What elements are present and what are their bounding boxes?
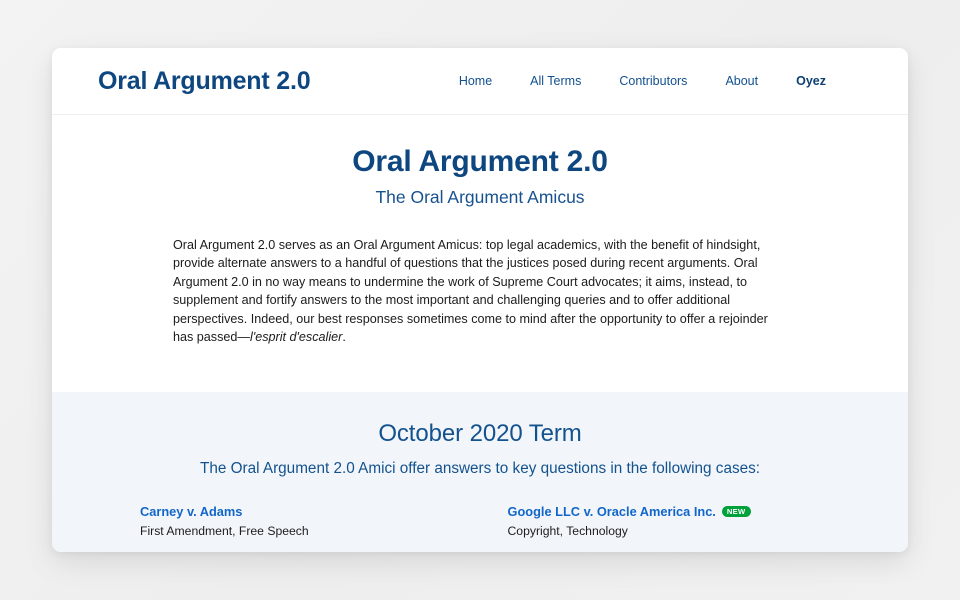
intro-paragraph-italic: l'esprit d'escalier	[250, 330, 342, 344]
site-header: Oral Argument 2.0 Home All Terms Contrib…	[52, 48, 908, 115]
page-title: Oral Argument 2.0	[52, 145, 908, 178]
nav-item-about[interactable]: About	[725, 74, 758, 88]
case-title-row: Google LLC v. Oracle America Inc. NEW	[508, 504, 821, 520]
list-item: Carney v. Adams First Amendment, Free Sp…	[140, 504, 453, 539]
page-subtitle: The Oral Argument Amicus	[52, 187, 908, 208]
case-title-row: Carney v. Adams	[140, 504, 453, 520]
nav-item-home[interactable]: Home	[459, 74, 492, 88]
term-title: October 2020 Term	[52, 420, 908, 448]
term-section: October 2020 Term The Oral Argument 2.0 …	[52, 392, 908, 552]
browser-card: Oral Argument 2.0 Home All Terms Contrib…	[52, 48, 908, 552]
intro-paragraph: Oral Argument 2.0 serves as an Oral Argu…	[173, 236, 787, 346]
case-topics: First Amendment, Free Speech	[140, 524, 453, 539]
case-link-google-v-oracle[interactable]: Google LLC v. Oracle America Inc.	[508, 504, 716, 520]
list-item: Google LLC v. Oracle America Inc. NEW Co…	[508, 504, 821, 539]
case-topics: Copyright, Technology	[508, 524, 821, 539]
hero-section: Oral Argument 2.0 The Oral Argument Amic…	[52, 115, 908, 392]
case-list: Carney v. Adams First Amendment, Free Sp…	[140, 504, 820, 552]
nav-item-oyez[interactable]: Oyez	[796, 74, 826, 88]
intro-paragraph-tail: .	[342, 330, 346, 344]
main-nav: Home All Terms Contributors About Oyez	[459, 74, 862, 88]
new-badge: NEW	[722, 506, 751, 517]
case-link-carney-v-adams[interactable]: Carney v. Adams	[140, 504, 242, 520]
nav-item-all-terms[interactable]: All Terms	[530, 74, 581, 88]
nav-item-contributors[interactable]: Contributors	[619, 74, 687, 88]
site-brand[interactable]: Oral Argument 2.0	[98, 67, 310, 96]
intro-paragraph-text: Oral Argument 2.0 serves as an Oral Argu…	[173, 238, 768, 344]
term-subtitle: The Oral Argument 2.0 Amici offer answer…	[52, 460, 908, 478]
